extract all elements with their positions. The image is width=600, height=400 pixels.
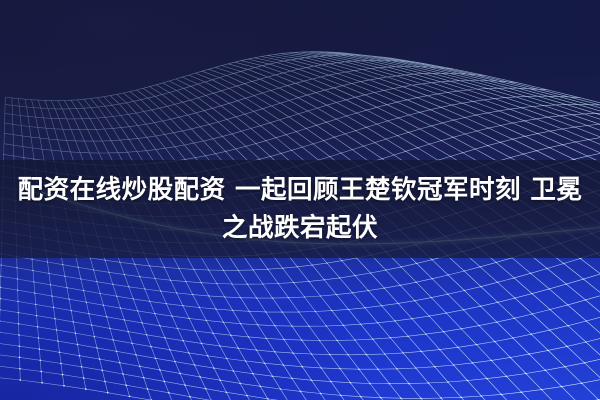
- headline-line-2: 之战跌宕起伏: [222, 209, 378, 247]
- stock-news-banner: 配资在线炒股配资 一起回顾王楚钦冠军时刻 卫冕 之战跌宕起伏: [0, 0, 600, 400]
- headline-line-1: 配资在线炒股配资 一起回顾王楚钦冠军时刻 卫冕: [18, 171, 583, 209]
- banner-headline: 配资在线炒股配资 一起回顾王楚钦冠军时刻 卫冕 之战跌宕起伏: [0, 160, 600, 258]
